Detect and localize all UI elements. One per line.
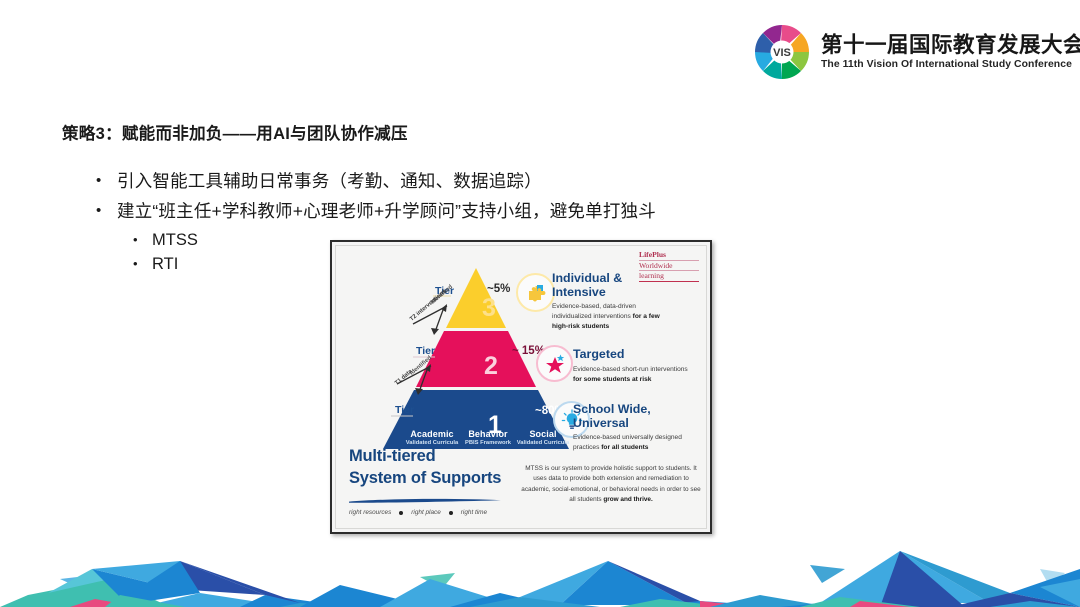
list-item-label: 引入智能工具辅助日常事务（考勤、通知、数据追踪） [117,169,542,193]
pillar-title: Behavior [461,429,515,439]
wordmark-line-2: System of Supports [349,468,501,490]
conference-title-en: The 11th Vision Of International Study C… [821,59,1080,71]
conference-title-cn: 第十一届国际教育发展大会 [821,33,1080,57]
pillar-title: Academic [405,429,459,439]
tier-1-description: School Wide, Universal Evidence-based un… [573,403,695,453]
wordmark-line-1: Multi-tiered [349,446,501,468]
tier-3-heading: Individual & Intensive [552,272,674,299]
sub-list-item-label: MTSS [152,229,198,251]
tagline-2: right place [411,509,441,516]
vis-pinwheel-logo: VIS [752,22,812,82]
logo-monogram: VIS [773,47,791,59]
pillar-subtitle: Validated Curricula [516,440,570,446]
list-item: • 引入智能工具辅助日常事务（考勤、通知、数据追踪） [96,169,896,193]
tier-2-heading: Targeted [573,348,695,362]
dot-separator-icon [449,511,453,515]
conference-logo: VIS 第十一届国际教育发展大会 The 11th Vision Of Inte… [752,22,1080,82]
tagline-row: right resources right place right time [349,509,487,516]
dot-separator-icon [399,511,403,515]
sub-list-item-label: RTI [152,253,178,275]
tier-1-heading: School Wide, Universal [573,403,695,430]
list-item-label: 建立“班主任+学科教师+心理老师+升学顾问”支持小组，避免单打独斗 [117,199,656,223]
brand-line-1: LifePlus [639,250,699,261]
mtss-pyramid-image: LifePlus Worldwide learning [330,240,712,534]
bullet-marker-icon: • [133,229,140,251]
mtss-summary-emphasis: grow and thrive. [603,496,652,503]
tier-1-body-emphasis: for all students [601,444,648,451]
tier-3-body: Evidence-based, data-driven individualiz… [552,303,636,320]
tier-2-body-emphasis: for some students at risk [573,376,651,383]
tier-2-description: Targeted Evidence-based short-run interv… [573,348,695,384]
tier-2-shape [416,331,536,387]
tier-2-number: 2 [484,352,498,381]
mtss-wordmark: Multi-tiered System of Supports [349,446,501,508]
star-icon [536,345,573,382]
underline-swoosh [349,498,501,503]
bullet-marker-icon: • [133,253,140,275]
tier-2-body: Evidence-based short-run interventions [573,366,688,373]
pillar-subtitle: Validated Curricula [405,440,459,446]
conference-title-block: 第十一届国际教育发展大会 The 11th Vision Of Internat… [821,33,1080,72]
bullet-marker-icon: • [96,169,104,193]
list-item: • 建立“班主任+学科教师+心理老师+升学顾问”支持小组，避免单打独斗 [96,199,896,223]
tier-3-number: 3 [482,294,496,323]
page-title: 策略3：赋能而非加负——用AI与团队协作减压 [62,120,408,144]
tagline-1: right resources [349,509,391,516]
tier-3-description: Individual & Intensive Evidence-based, d… [552,272,674,332]
tagline-3: right time [461,509,487,516]
mtss-summary-paragraph: MTSS is our system to provide holistic s… [521,464,701,506]
bullet-marker-icon: • [96,199,104,223]
base-pillar-academic: Academic Validated Curricula [405,429,459,446]
brand-line-2: Worldwide [639,261,699,272]
tier-2-label: Tier [416,345,435,357]
footer-decoration [0,517,1080,607]
tier-3-shape [446,268,506,328]
pillar-subtitle: PBIS Framework [461,440,515,446]
puzzle-piece-icon [516,273,555,312]
tier-1-label: Tier [395,404,414,416]
base-pillar-behavior: Behavior PBIS Framework [461,429,515,446]
